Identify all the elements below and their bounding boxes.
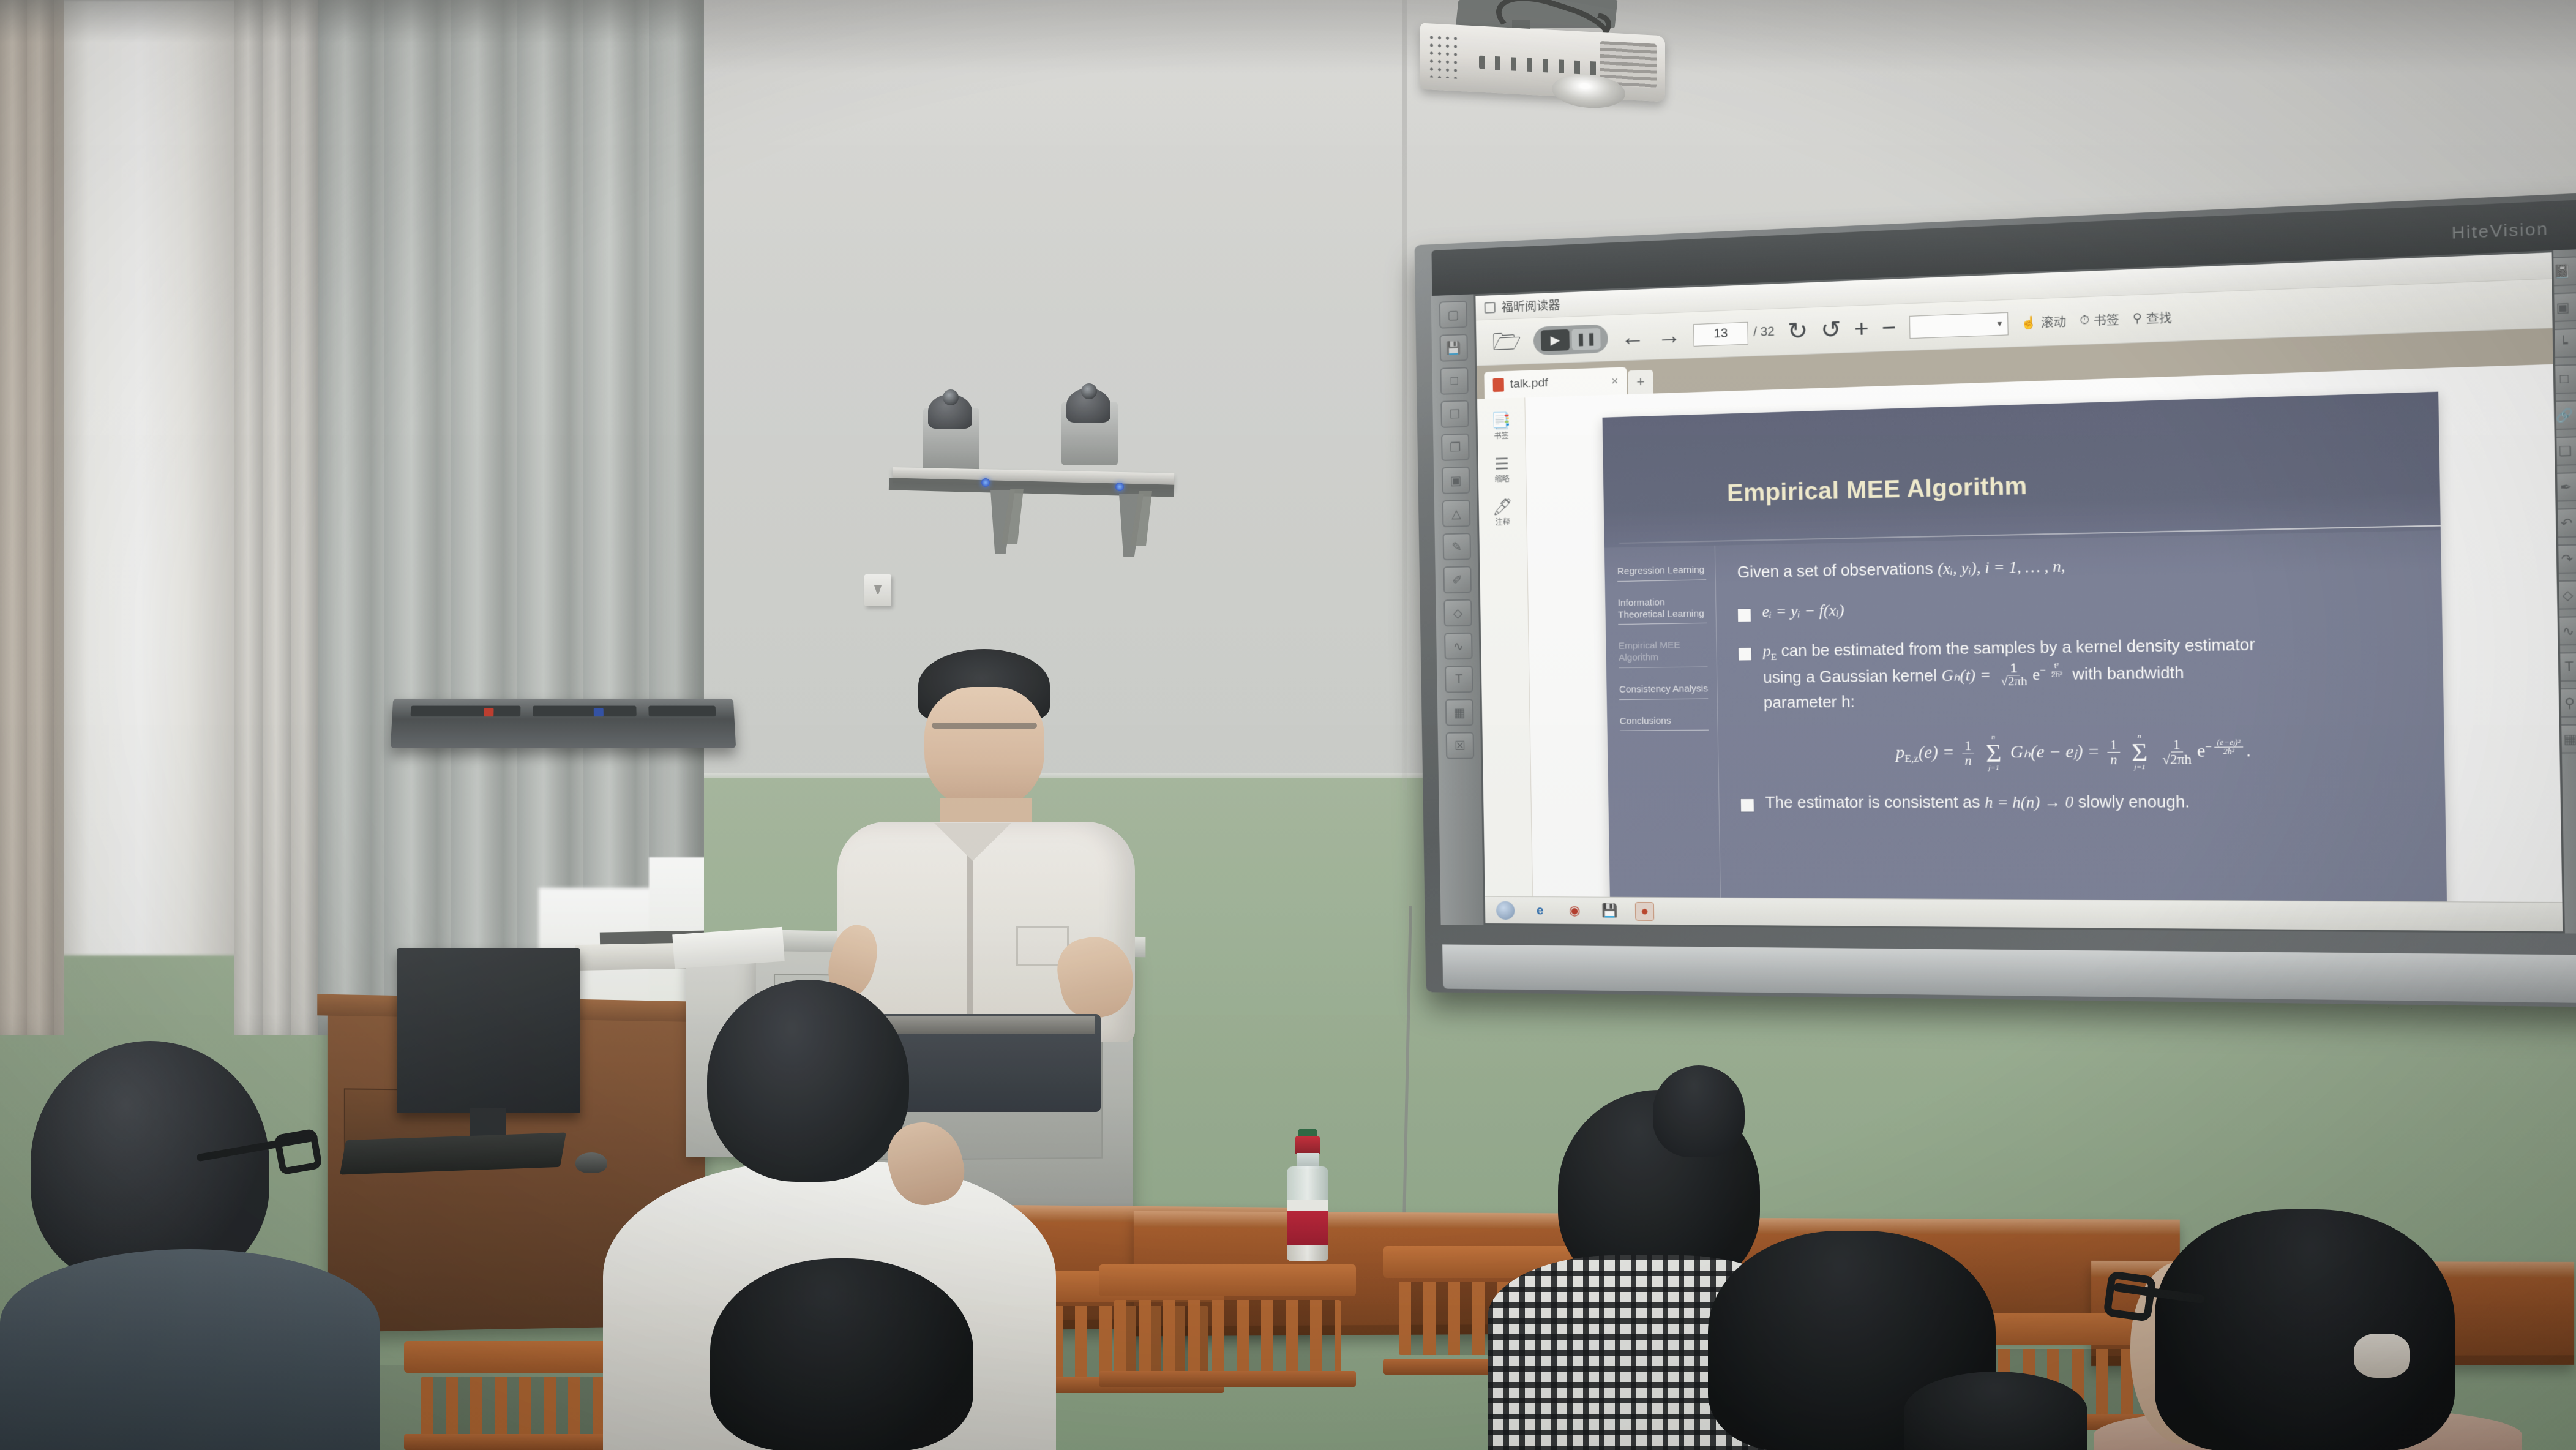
save-icon[interactable]: 💾 bbox=[1600, 901, 1619, 920]
toolbar-extra-bookmark-label: 书签 bbox=[2094, 310, 2119, 329]
internet-explorer-icon[interactable]: e bbox=[1530, 901, 1549, 920]
bottle-label bbox=[1287, 1200, 1328, 1245]
equation-fraction-2: 1 n bbox=[2107, 738, 2120, 767]
save-icon[interactable]: 💾 bbox=[1440, 334, 1469, 362]
audience-head bbox=[2155, 1209, 2455, 1450]
camera-lens-icon bbox=[1081, 383, 1097, 399]
chair-backrest bbox=[1099, 1264, 1356, 1296]
window-light bbox=[37, 0, 245, 955]
new-tab-button[interactable]: + bbox=[1628, 370, 1653, 394]
slide-intro-line: Given a set of observations (xᵢ, yᵢ), i … bbox=[1737, 548, 2416, 585]
minus-icon[interactable]: − bbox=[1881, 315, 1896, 340]
audience-long-hair-front bbox=[710, 1258, 973, 1450]
note-icon[interactable]: ▢ bbox=[1439, 301, 1468, 329]
audience-glasses-lens bbox=[2103, 1271, 2157, 1322]
document-tab-label: talk.pdf bbox=[1510, 377, 1548, 391]
kernel-exponent-fraction: t²2h² bbox=[2048, 663, 2065, 679]
sum1-lower: j=1 bbox=[1988, 765, 1999, 772]
wall-outlet[interactable] bbox=[864, 574, 891, 606]
equation-f3-den: √2πh bbox=[2160, 753, 2195, 767]
audience-grey-tshirt bbox=[0, 1249, 380, 1450]
app-content-area: 📑 书签 ☰ 缩略 🖊 注释 bbox=[1477, 364, 2563, 902]
thumbnail-label: 缩略 bbox=[1494, 473, 1509, 484]
slide-nav-empirical-mee-algorithm: Empirical MEE Algorithm bbox=[1619, 640, 1708, 668]
equation-exp-numerator: (e−eⱼ)² bbox=[2214, 738, 2243, 748]
slide-body: Given a set of observations (xᵢ, yᵢ), i … bbox=[1715, 530, 2447, 902]
annotation-icon[interactable]: 🖊 注释 bbox=[1490, 499, 1515, 527]
equation-exponent: −(e−eⱼ)²2h² bbox=[2205, 741, 2246, 753]
kernel-frac-denominator: √2πh bbox=[1998, 675, 2030, 689]
slide-intro-text: Given a set of observations bbox=[1737, 560, 1933, 582]
pdf-reader-app[interactable]: 福昕阅读器 🗁 ▶ ❚❚ ← → 13 / 32 ↻ ↺ bbox=[1475, 252, 2563, 931]
slide-navigation: Regression Learning Information Theoreti… bbox=[1604, 546, 1721, 902]
page-number-input[interactable]: 13 bbox=[1693, 321, 1748, 346]
select-icon[interactable]: □ bbox=[1440, 367, 1469, 395]
thumbnail-glyph: ☰ bbox=[1494, 456, 1509, 472]
toolbar-extra-search[interactable]: ⚲ 查找 bbox=[2133, 309, 2173, 328]
layer-icon[interactable]: ▣ bbox=[1442, 467, 1470, 494]
water-bottle[interactable] bbox=[1286, 1136, 1330, 1261]
playback-controls[interactable]: ▶ ❚❚ bbox=[1533, 324, 1608, 355]
start-orb-icon[interactable] bbox=[1496, 901, 1515, 919]
slide-bullet-3-text-a: The estimator is consistent as bbox=[1765, 794, 1980, 812]
folder-open-icon[interactable]: 🗁 bbox=[1492, 329, 1521, 354]
equation-fraction-3: 1 √2πh bbox=[2159, 737, 2195, 767]
slide-nav-regression-learning: Regression Learning bbox=[1617, 565, 1706, 582]
window-area bbox=[0, 0, 704, 1035]
zoom-level-select[interactable]: ▾ bbox=[1909, 312, 2008, 338]
app-sidebar[interactable]: 📑 书签 ☰ 缩略 🖊 注释 bbox=[1477, 397, 1533, 896]
equation-lhs-subscript: E,z bbox=[1904, 753, 1919, 765]
camera-dome-icon bbox=[928, 394, 972, 429]
copy-icon[interactable]: ❐ bbox=[1441, 434, 1470, 461]
pen-slot-1[interactable] bbox=[411, 706, 521, 717]
slide-bullet-3-body: The estimator is consistent as h = h(n) … bbox=[1765, 791, 2190, 815]
hand-icon: ☝ bbox=[2021, 315, 2037, 331]
camera-dome-icon bbox=[1066, 388, 1110, 423]
slide-bullet-3-math: h = h(n) → 0 bbox=[1985, 794, 2074, 811]
annotation-label: 注释 bbox=[1496, 517, 1510, 528]
whiteboard-pen-tray[interactable] bbox=[391, 699, 736, 748]
toolbar-extra-bookmark[interactable]: ⏱ 书签 bbox=[2080, 310, 2119, 329]
camera-lens-icon bbox=[943, 389, 959, 405]
bookmark-label: 书签 bbox=[1494, 430, 1508, 441]
beamer-slide: Empirical MEE Algorithm Regression Learn… bbox=[1603, 392, 2447, 903]
slide-parameter-line: parameter h: bbox=[1764, 693, 1855, 712]
clock-icon: ⏱ bbox=[2080, 314, 2090, 328]
close-icon[interactable]: ☒ bbox=[1446, 732, 1475, 759]
pen-slot-3[interactable] bbox=[648, 706, 716, 717]
pdf-icon bbox=[1493, 378, 1504, 392]
document-tab[interactable]: talk.pdf × bbox=[1484, 367, 1627, 399]
slide-intro-math: (xᵢ, yᵢ), i = 1, … , n, bbox=[1938, 558, 2065, 577]
grid-icon[interactable]: ▦ bbox=[1445, 699, 1474, 726]
equation-exponent-fraction: (e−eⱼ)²2h² bbox=[2214, 738, 2244, 757]
ceiling-projector bbox=[1420, 6, 1677, 116]
sigma-icon: Σ bbox=[2132, 740, 2148, 764]
whiteboard-brand-label: HiteVision bbox=[2451, 219, 2548, 243]
page-icon[interactable]: ☐ bbox=[1440, 400, 1469, 428]
toolbar-extra-search-label: 查找 bbox=[2146, 309, 2173, 327]
presenter-belt bbox=[886, 1016, 1095, 1034]
slide-nav-consistency-analysis: Consistency Analysis bbox=[1619, 683, 1708, 700]
classroom-photo-scene: HiteVision ▢ 💾 □ ☐ ❐ ▣ △ ✎ ✐ ◇ ∿ T ▦ ☒ 📓… bbox=[0, 0, 2576, 1450]
app-title-text: 福昕阅读器 bbox=[1502, 296, 1560, 315]
equation-tail: . bbox=[2246, 741, 2252, 761]
bookmark-icon[interactable]: 📑 书签 bbox=[1489, 413, 1514, 440]
presenter-face bbox=[924, 687, 1044, 810]
projector-body bbox=[1420, 23, 1665, 102]
media-player-icon[interactable]: ◉ bbox=[1565, 901, 1584, 920]
equation-f1-den: n bbox=[1962, 754, 1974, 768]
marker-icon[interactable]: ✐ bbox=[1443, 566, 1472, 593]
plus-icon[interactable]: + bbox=[1854, 317, 1869, 341]
equation-fraction-1: 1 n bbox=[1962, 739, 1975, 768]
eraser-icon[interactable]: ◇ bbox=[1443, 599, 1472, 627]
equation-exp-denominator: 2h² bbox=[2220, 748, 2237, 756]
slide-bullet-2: pE can be estimated from the samples by … bbox=[1739, 631, 2419, 715]
pause-icon[interactable]: ❚❚ bbox=[1572, 328, 1601, 350]
document-icon bbox=[1485, 302, 1496, 314]
camera-status-led-right bbox=[1115, 483, 1124, 491]
bullet-square-icon bbox=[1738, 609, 1751, 622]
hair-clip bbox=[2354, 1334, 2410, 1378]
equation-f2-den: n bbox=[2107, 753, 2120, 767]
slide-bullet-1-math: eᵢ = yᵢ − f(xᵢ) bbox=[1762, 599, 1844, 624]
equation-summation-2: n Σ j=1 bbox=[2132, 733, 2148, 772]
curtain-main[interactable] bbox=[318, 0, 704, 1035]
slide-main: Regression Learning Information Theoreti… bbox=[1604, 530, 2447, 902]
pdf-reader-icon[interactable]: ● bbox=[1635, 902, 1654, 921]
chevron-down-icon: ▾ bbox=[1997, 318, 2002, 329]
audience-head bbox=[707, 980, 909, 1182]
slide-bullet-2-body: pE can be estimated from the samples by … bbox=[1762, 633, 2256, 715]
windows-taskbar[interactable]: e ◉ 💾 ● bbox=[1485, 896, 2563, 931]
projector-ports bbox=[1479, 56, 1601, 75]
equation-sum1-body: Gₕ(e − eⱼ) = bbox=[2010, 742, 2100, 761]
kernel-frac-numerator: 1 bbox=[2007, 662, 2020, 676]
slide-kernel-intro: using a Gaussian kernel bbox=[1763, 667, 1937, 686]
slide-bullet-2-symbol: p bbox=[1762, 643, 1771, 660]
play-icon[interactable]: ▶ bbox=[1541, 329, 1570, 351]
equation-f3-num: 1 bbox=[2170, 737, 2183, 753]
chair-3[interactable] bbox=[1099, 1264, 1356, 1387]
equation-lhs-arg: (e) = bbox=[1919, 743, 1955, 762]
curtain-rail-shadow bbox=[0, 0, 704, 43]
rotate-right-icon[interactable]: ↺ bbox=[1821, 317, 1841, 342]
close-icon[interactable]: × bbox=[1611, 374, 1618, 388]
arrow-right-icon[interactable]: → bbox=[1657, 323, 1681, 348]
bookmark-glyph: 📑 bbox=[1491, 412, 1511, 429]
audience-head-back-right bbox=[1904, 1372, 2087, 1450]
pen-icon[interactable]: ✎ bbox=[1443, 533, 1472, 560]
chair-rail bbox=[1099, 1371, 1356, 1387]
curtain-middle[interactable] bbox=[234, 0, 323, 1035]
slide-title: Empirical MEE Algorithm bbox=[1727, 473, 2027, 508]
text-icon[interactable]: T bbox=[1445, 666, 1473, 693]
kernel-fraction: 1 √2πh bbox=[1998, 662, 2030, 689]
audience-head bbox=[31, 1041, 269, 1286]
equation-f1-num: 1 bbox=[1962, 739, 1974, 754]
sigma-icon: Σ bbox=[1986, 742, 2002, 765]
slide-bullet-2-subscript: E bbox=[1771, 653, 1777, 663]
camera-status-led-left bbox=[981, 478, 990, 487]
projector-speaker-grill bbox=[1428, 33, 1459, 79]
slide-bullet-1: eᵢ = yᵢ − f(xᵢ) bbox=[1738, 590, 2417, 624]
red-pen[interactable] bbox=[484, 708, 493, 716]
whiteboard-screen[interactable]: 福昕阅读器 🗁 ▶ ❚❚ ← → 13 / 32 ↻ ↺ bbox=[1473, 250, 2565, 934]
audience-head-rear bbox=[1653, 1065, 1745, 1157]
wall-corner-edge bbox=[1402, 0, 1407, 790]
equation-summation-1: n Σ j=1 bbox=[1985, 734, 2001, 772]
ptz-camera-left bbox=[923, 408, 979, 471]
pdf-page-viewport[interactable]: Empirical MEE Algorithm Regression Learn… bbox=[1525, 364, 2562, 902]
bullet-square-icon bbox=[1741, 799, 1754, 812]
slide-nav-information-theoretical-learning: Information Theoretical Learning bbox=[1618, 596, 1707, 625]
page-total-label: / 32 bbox=[1753, 325, 1775, 340]
kernel-exponent: −t²2h² bbox=[2040, 665, 2068, 676]
pen-slot-2[interactable] bbox=[533, 706, 637, 717]
kernel-exp-denominator: 2h² bbox=[2048, 671, 2065, 679]
mouse[interactable] bbox=[575, 1152, 607, 1173]
slide-bullet-3: The estimator is consistent as h = h(n) … bbox=[1741, 790, 2421, 815]
presenter-glasses bbox=[932, 723, 1037, 729]
page-navigator[interactable]: 13 / 32 bbox=[1693, 321, 1775, 347]
desktop-monitor bbox=[397, 948, 580, 1113]
slide-kernel-fn: Gₕ(t) = bbox=[1941, 667, 1991, 685]
annotation-glyph: 🖊 bbox=[1492, 498, 1513, 515]
thumbnail-icon[interactable]: ☰ 缩略 bbox=[1489, 456, 1515, 484]
sum2-lower: j=1 bbox=[2134, 764, 2145, 772]
curve-icon[interactable]: ∿ bbox=[1444, 633, 1473, 660]
blue-pen[interactable] bbox=[594, 708, 604, 716]
slide-bullet-2-text: can be estimated from the samples by a k… bbox=[1781, 636, 2255, 659]
arrow-left-icon[interactable]: ← bbox=[1620, 325, 1645, 350]
chair-slats bbox=[1114, 1300, 1341, 1373]
slide-main-equation: pE,z(e) = 1 n n Σ j=1 bbox=[1740, 731, 2419, 773]
equation-lhs: p bbox=[1896, 743, 1905, 762]
slide-bandwidth-text: with bandwidth bbox=[2072, 664, 2184, 683]
equation-exp-base: e bbox=[2197, 741, 2206, 761]
search-icon: ⚲ bbox=[2133, 311, 2143, 326]
kernel-exp-base: e bbox=[2032, 666, 2040, 683]
slide-header: Empirical MEE Algorithm bbox=[1603, 392, 2441, 548]
toolbar-extra-scroll[interactable]: ☝ 滚动 bbox=[2021, 312, 2066, 331]
wall-camera-rig bbox=[880, 398, 1186, 551]
interactive-whiteboard[interactable]: HiteVision ▢ 💾 □ ☐ ❐ ▣ △ ✎ ✐ ◇ ∿ T ▦ ☒ 📓… bbox=[1415, 192, 2576, 1008]
slide-bullet-3-text-b: slowly enough. bbox=[2078, 794, 2190, 812]
bottle-cap bbox=[1295, 1136, 1320, 1154]
slide-nav-conclusions: Conclusions bbox=[1620, 715, 1709, 731]
bullet-square-icon bbox=[1739, 648, 1751, 661]
toolbar-extra-scroll-label: 滚动 bbox=[2041, 312, 2067, 331]
equation-f2-num: 1 bbox=[2107, 738, 2120, 753]
curtain-left[interactable] bbox=[0, 0, 64, 1035]
kernel-exp-numerator: t² bbox=[2051, 663, 2062, 671]
ptz-camera-right bbox=[1061, 402, 1118, 465]
rotate-left-icon[interactable]: ↻ bbox=[1788, 319, 1808, 344]
shapes-icon[interactable]: △ bbox=[1442, 500, 1471, 527]
